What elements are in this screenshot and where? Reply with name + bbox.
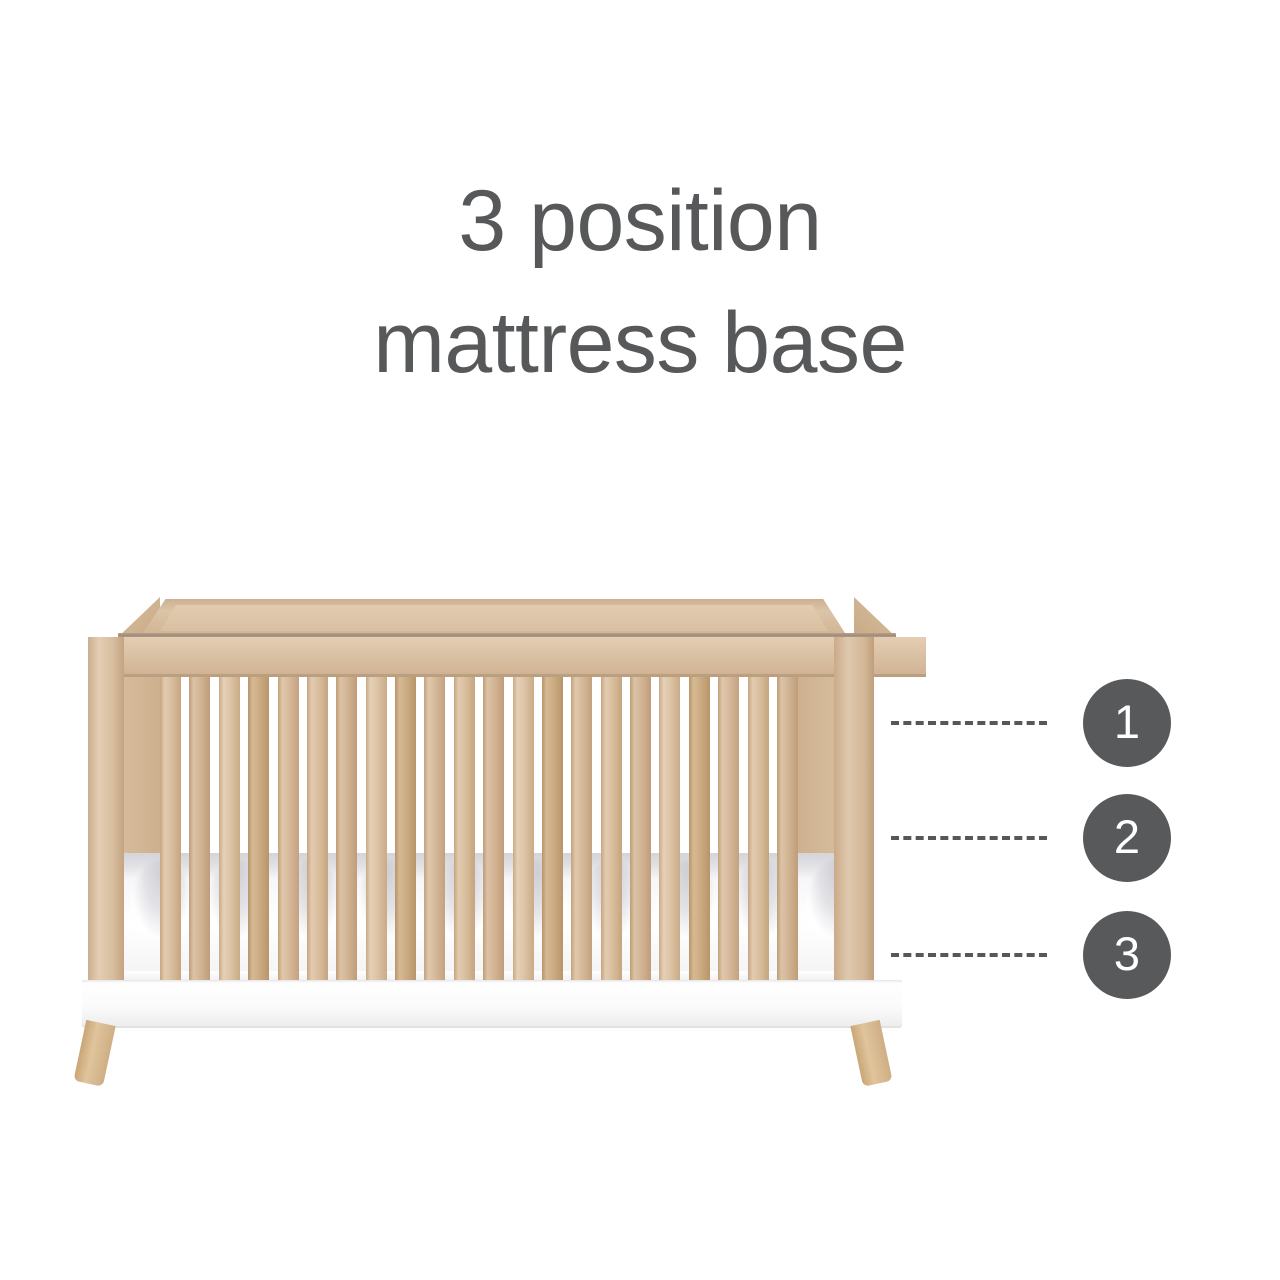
page-title-line-2: mattress base <box>0 282 1280 404</box>
callout-leader-line-3 <box>891 953 1047 957</box>
crib-leg-right <box>850 1020 892 1087</box>
crib-slat <box>483 677 504 982</box>
crib-slat <box>748 677 769 982</box>
page-title-line-1: 3 position <box>0 160 1280 282</box>
crib-slat <box>689 677 710 982</box>
crib-end-post-right <box>834 637 874 982</box>
crib-slat <box>248 677 269 982</box>
crib-slat <box>189 677 210 982</box>
crib-slat <box>571 677 592 982</box>
crib-top-rail-assembly <box>88 595 898 657</box>
callout-3: 3 <box>891 911 1171 999</box>
page-title: 3 position mattress base <box>0 160 1280 404</box>
leg-body <box>73 1020 115 1087</box>
crib-slat <box>424 677 445 982</box>
crib-leg-left <box>73 1020 115 1087</box>
crib-slat <box>307 677 328 982</box>
callout-badge-1[interactable]: 1 <box>1083 679 1171 767</box>
callout-leader-line-2 <box>891 836 1047 840</box>
callout-badge-3[interactable]: 3 <box>1083 911 1171 999</box>
crib-slat <box>542 677 563 982</box>
crib-slat <box>454 677 475 982</box>
crib-slat <box>219 677 240 982</box>
crib-slat <box>513 677 534 982</box>
callout-1: 1 <box>891 679 1171 767</box>
crib-slat <box>659 677 680 982</box>
crib-back-rail-inner <box>160 605 828 631</box>
crib-slat <box>718 677 739 982</box>
crib-base-panel <box>82 980 902 1028</box>
crib-illustration <box>60 595 900 1085</box>
crib-slats <box>160 677 798 982</box>
crib-front-top-rail <box>116 637 926 677</box>
leg-body <box>850 1020 892 1087</box>
crib-slat <box>777 677 798 982</box>
crib-slat <box>336 677 357 982</box>
callout-badge-2[interactable]: 2 <box>1083 794 1171 882</box>
crib-end-post-left <box>88 637 124 982</box>
crib-slat <box>278 677 299 982</box>
callout-leader-line-1 <box>891 721 1047 725</box>
crib-slat <box>601 677 622 982</box>
callout-2: 2 <box>891 794 1171 882</box>
crib-slat <box>395 677 416 982</box>
crib-slat <box>630 677 651 982</box>
crib-slat <box>366 677 387 982</box>
crib-slat <box>160 677 181 982</box>
